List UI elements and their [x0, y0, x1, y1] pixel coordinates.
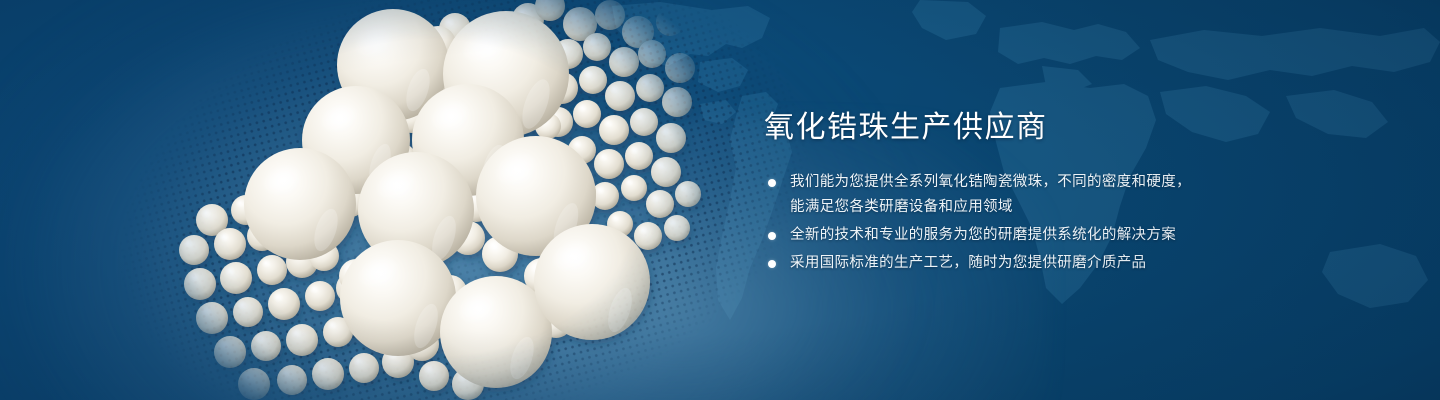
feature-list: 我们能为您提供全系列氧化锆陶瓷微珠，不同的密度和硬度， 能满足您各类研磨设备和应…: [764, 170, 1244, 276]
bullet-line-1: 采用国际标准的生产工艺，随时为您提供研磨介质产品: [790, 255, 1146, 271]
list-item: 全新的技术和专业的服务为您的研磨提供系统化的解决方案: [764, 223, 1244, 248]
bullet-line-1: 我们能为您提供全系列氧化锆陶瓷微珠，不同的密度和硬度，: [790, 174, 1191, 190]
bullet-line-1: 全新的技术和专业的服务为您的研磨提供系统化的解决方案: [790, 227, 1176, 243]
bullet-dot-icon: [768, 260, 776, 268]
banner-copy: 氧化锆珠生产供应商 我们能为您提供全系列氧化锆陶瓷微珠，不同的密度和硬度， 能满…: [764, 108, 1244, 276]
hero-banner: 氧化锆珠生产供应商 我们能为您提供全系列氧化锆陶瓷微珠，不同的密度和硬度， 能满…: [0, 0, 1440, 400]
bullet-dot-icon: [768, 232, 776, 240]
bullet-line-2: 能满足您各类研磨设备和应用领域: [790, 195, 1244, 220]
page-title: 氧化锆珠生产供应商: [764, 108, 1244, 148]
list-item: 我们能为您提供全系列氧化锆陶瓷微珠，不同的密度和硬度， 能满足您各类研磨设备和应…: [764, 170, 1244, 220]
list-item: 采用国际标准的生产工艺，随时为您提供研磨介质产品: [764, 251, 1244, 276]
bullet-dot-icon: [768, 179, 776, 187]
